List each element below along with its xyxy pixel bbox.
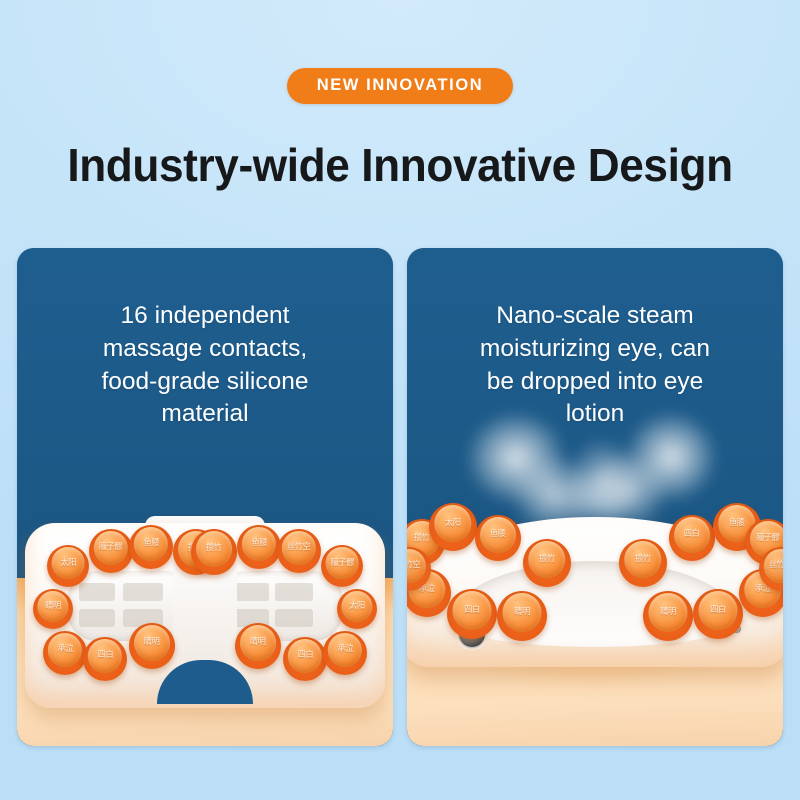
caption-line: Nano-scale steam	[429, 300, 761, 333]
acupoint-node: 鱼腰	[129, 525, 173, 569]
caption-line: be dropped into eye	[429, 366, 761, 399]
acupoint-node: 鱼腰	[237, 525, 281, 569]
feature-cards: 16 independent massage contacts, food-gr…	[17, 248, 783, 746]
acupoint-node: 攒竹	[619, 539, 667, 587]
product-photo-front: 太阳 瞳子髎 鱼腰 攒竹 攒竹	[17, 456, 393, 746]
acupoint-node: 承泣	[323, 631, 367, 675]
acupoint-node: 丝竹空	[759, 547, 783, 591]
feature-card-massage-contacts: 16 independent massage contacts, food-gr…	[17, 248, 393, 746]
acupoint-node: 太阳	[47, 545, 89, 587]
new-innovation-badge: NEW INNOVATION	[287, 68, 514, 104]
acupoint-node: 瞳子髎	[89, 529, 133, 573]
promo-page: NEW INNOVATION Industry-wide Innovative …	[0, 0, 800, 800]
caption-line: 16 independent	[39, 300, 371, 333]
caption-line: food-grade silicone	[39, 366, 371, 399]
device-shell: 太阳 瞳子髎 鱼腰 攒竹 攒竹	[25, 523, 385, 708]
acupoint-node: 丝竹空	[407, 547, 431, 591]
acupoint-node: 睛明	[643, 591, 693, 641]
steam-plume	[549, 462, 641, 540]
card-caption-right: Nano-scale steam moisturizing eye, can b…	[407, 300, 783, 431]
acupoint-node: 睛明	[235, 623, 281, 669]
acupoint-node: 睛明	[129, 623, 175, 669]
card-caption-left: 16 independent massage contacts, food-gr…	[17, 300, 393, 431]
acupoint-node: 四白	[693, 589, 743, 639]
feature-card-nano-steam: Nano-scale steam moisturizing eye, can b…	[407, 248, 783, 746]
acupoint-node: 瞳子髎	[321, 545, 363, 587]
acupoint-node: 四白	[447, 589, 497, 639]
acupoint-node: 四白	[669, 515, 715, 561]
acupoint-node: 睛明	[33, 589, 73, 629]
acupoint-node: 四白	[83, 637, 127, 681]
acupoint-node: 承泣	[43, 631, 87, 675]
caption-line: material	[39, 398, 371, 431]
eye-massager-device: 太阳 瞳子髎 鱼腰 攒竹 攒竹	[25, 523, 385, 708]
acupoint-node: 太阳	[429, 503, 477, 551]
acupoint-node: 睛明	[497, 591, 547, 641]
badge-container: NEW INNOVATION	[0, 68, 800, 104]
caption-line: lotion	[429, 398, 761, 431]
acupoint-node: 太阳	[337, 589, 377, 629]
page-title: Industry-wide Innovative Design	[16, 140, 784, 191]
acupoint-node: 丝竹空	[277, 529, 321, 573]
acupoint-node: 攒竹	[191, 529, 237, 575]
acupoint-node: 攒竹	[523, 539, 571, 587]
caption-line: massage contacts,	[39, 333, 371, 366]
caption-line: moisturizing eye, can	[429, 333, 761, 366]
acupoint-node: 四白	[283, 637, 327, 681]
